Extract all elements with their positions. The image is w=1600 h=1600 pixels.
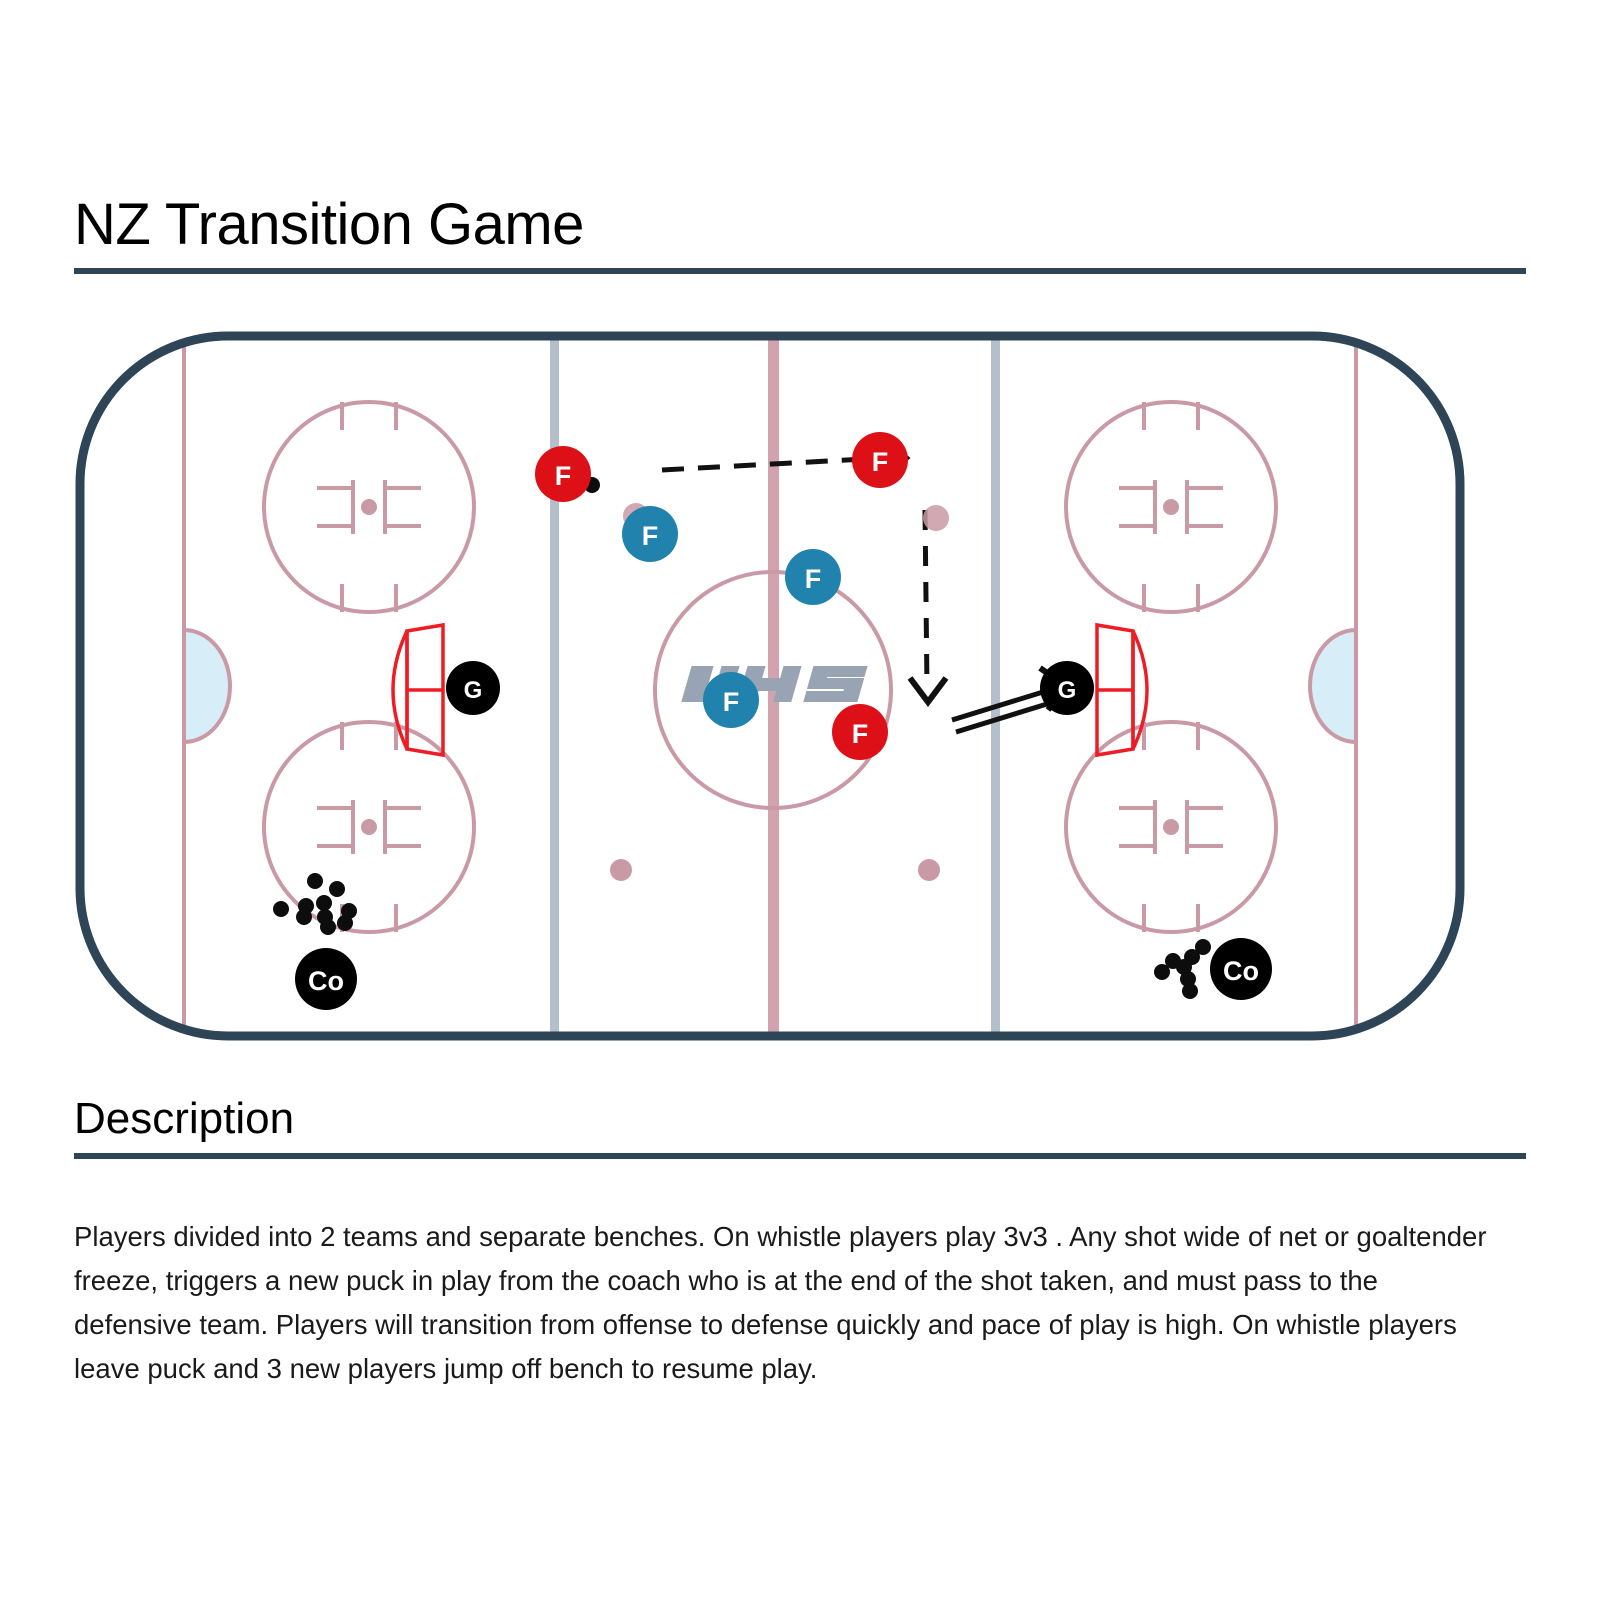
goalie-token-left[interactable]: G bbox=[446, 661, 500, 715]
player-label: F bbox=[852, 719, 869, 749]
player-token-blue-f-3[interactable]: F bbox=[703, 672, 759, 728]
goalie-token-right[interactable]: G bbox=[1040, 661, 1094, 715]
coach-token-left[interactable]: Co bbox=[295, 948, 357, 1010]
coach-label: Co bbox=[308, 966, 344, 996]
title-divider bbox=[74, 268, 1526, 274]
description-block: Description Players divided into 2 teams… bbox=[74, 1093, 1526, 1419]
page-title: NZ Transition Game bbox=[74, 192, 1526, 258]
player-label: F bbox=[723, 687, 740, 717]
blue-line-right bbox=[991, 336, 1000, 1036]
title-block: NZ Transition Game bbox=[74, 192, 1526, 274]
goalie-label: G bbox=[1058, 677, 1077, 704]
player-label: F bbox=[805, 564, 822, 594]
player-token-red-f-3[interactable]: F bbox=[832, 704, 888, 760]
player-label: F bbox=[642, 521, 659, 551]
coach-token-right[interactable]: Co bbox=[1210, 938, 1272, 1000]
player-label: F bbox=[872, 447, 889, 477]
goalie-label: G bbox=[464, 677, 483, 704]
rink-canvas: F F F F F F bbox=[74, 330, 1526, 1050]
drill-page: NZ Transition Game bbox=[0, 0, 1600, 1600]
description-heading: Description bbox=[74, 1093, 1526, 1145]
player-token-blue-f-1[interactable]: F bbox=[622, 506, 678, 562]
player-label: F bbox=[555, 461, 572, 491]
blue-line-left bbox=[550, 336, 559, 1036]
description-text: Players divided into 2 teams and separat… bbox=[74, 1215, 1494, 1391]
marker-dot-right bbox=[923, 505, 949, 531]
description-divider bbox=[74, 1153, 1526, 1159]
rink-diagram: F F F F F F bbox=[74, 330, 1526, 1050]
nz-faceoff-dot-right-bottom bbox=[918, 859, 940, 881]
player-token-blue-f-2[interactable]: F bbox=[785, 549, 841, 605]
coach-label: Co bbox=[1223, 956, 1259, 986]
nz-faceoff-dot-left-bottom bbox=[610, 859, 632, 881]
player-token-red-f-1[interactable]: F bbox=[535, 446, 591, 502]
player-token-red-f-2[interactable]: F bbox=[852, 432, 908, 488]
